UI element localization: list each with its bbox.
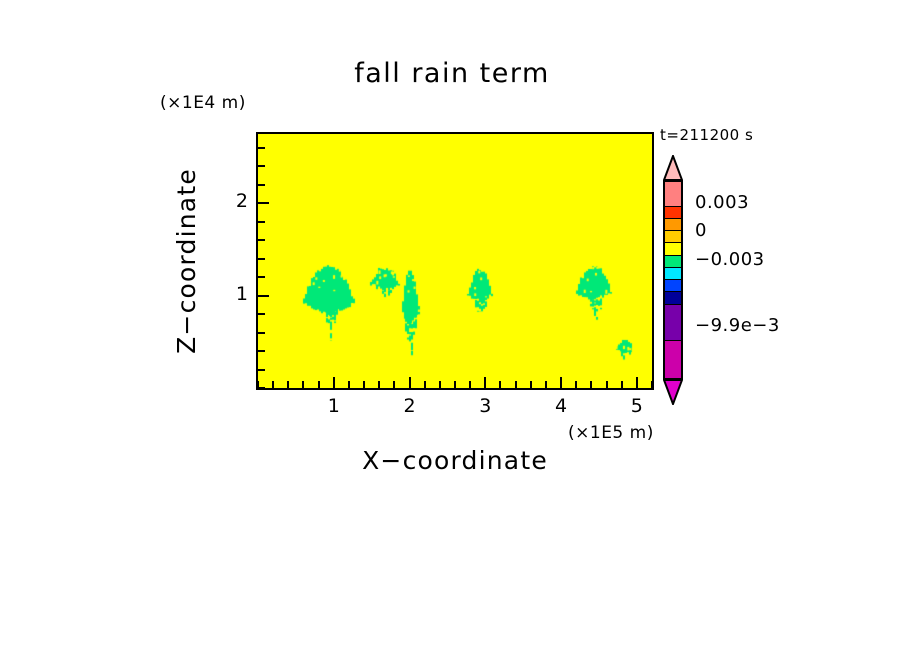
y-minor-tick <box>258 332 265 334</box>
y-axis-unit-label: (×1E4 m) <box>160 93 246 113</box>
x-axis-unit-label: (×1E5 m) <box>568 423 654 443</box>
y-minor-tick <box>258 350 265 352</box>
x-minor-tick <box>393 381 395 388</box>
x-minor-tick <box>302 381 304 388</box>
colorbar-label-2: −0.003 <box>695 249 765 270</box>
x-minor-tick <box>272 381 274 388</box>
y-tick-label-0: 1 <box>214 283 248 305</box>
x-minor-tick <box>469 381 471 388</box>
x-minor-tick <box>621 381 623 388</box>
timestamp-label: t=211200 s <box>660 126 753 144</box>
x-minor-tick <box>575 381 577 388</box>
colorbar-band-2 <box>665 219 681 231</box>
y-minor-tick <box>258 184 265 186</box>
colorbar-bands <box>663 180 683 380</box>
page-title: fall rain term <box>0 58 904 89</box>
y-minor-tick <box>258 369 265 371</box>
y-minor-tick <box>258 313 265 315</box>
x-minor-tick <box>515 381 517 388</box>
x-axis-title: X−coordinate <box>255 446 655 475</box>
x-major-tick <box>333 377 335 388</box>
y-minor-tick <box>258 239 265 241</box>
y-minor-tick <box>258 147 265 149</box>
x-tick-label-4: 5 <box>617 395 657 417</box>
y-tick-label-1: 2 <box>214 190 248 212</box>
x-tick-label-1: 2 <box>390 395 430 417</box>
colorbar-label-0: 0.003 <box>695 192 749 213</box>
y-major-tick <box>258 202 269 204</box>
x-minor-tick <box>363 381 365 388</box>
colorbar-band-3 <box>665 231 681 243</box>
x-major-tick <box>636 377 638 388</box>
colorbar-label-3: −9.9e−3 <box>695 315 780 336</box>
colorbar-band-5 <box>665 256 681 268</box>
x-tick-label-0: 1 <box>314 395 354 417</box>
y-minor-tick <box>258 258 265 260</box>
y-minor-tick <box>258 276 265 278</box>
colorbar-band-7 <box>665 280 681 292</box>
colorbar-band-6 <box>665 268 681 280</box>
plot-area <box>256 132 654 390</box>
x-minor-tick <box>545 381 547 388</box>
x-tick-label-2: 3 <box>465 395 505 417</box>
y-minor-tick <box>258 165 265 167</box>
x-minor-tick <box>530 381 532 388</box>
x-minor-tick <box>439 381 441 388</box>
y-axis-title: Z−coordinate <box>172 168 204 354</box>
colorbar-band-4 <box>665 243 681 255</box>
y-major-tick <box>258 295 269 297</box>
colorbar-band-9 <box>665 305 681 342</box>
x-tick-label-3: 4 <box>541 395 581 417</box>
y-minor-tick <box>258 387 265 389</box>
x-minor-tick <box>348 381 350 388</box>
x-minor-tick <box>378 381 380 388</box>
x-minor-tick <box>287 381 289 388</box>
x-minor-tick <box>590 381 592 388</box>
colorbar-label-1: 0 <box>695 220 707 241</box>
x-major-tick <box>560 377 562 388</box>
contour-field <box>258 134 652 388</box>
y-minor-tick <box>258 221 265 223</box>
colorbar-band-10 <box>665 341 681 378</box>
x-minor-tick <box>454 381 456 388</box>
x-minor-tick <box>651 381 653 388</box>
x-minor-tick <box>424 381 426 388</box>
colorbar-overflow-arrow-top <box>663 155 683 181</box>
x-minor-tick <box>606 381 608 388</box>
x-major-tick <box>484 377 486 388</box>
colorbar-band-0 <box>665 182 681 207</box>
x-major-tick <box>409 377 411 388</box>
colorbar-underflow-arrow-bottom <box>663 379 683 405</box>
x-minor-tick <box>499 381 501 388</box>
x-minor-tick <box>318 381 320 388</box>
colorbar-band-1 <box>665 207 681 219</box>
colorbar <box>663 155 683 407</box>
colorbar-band-8 <box>665 292 681 304</box>
